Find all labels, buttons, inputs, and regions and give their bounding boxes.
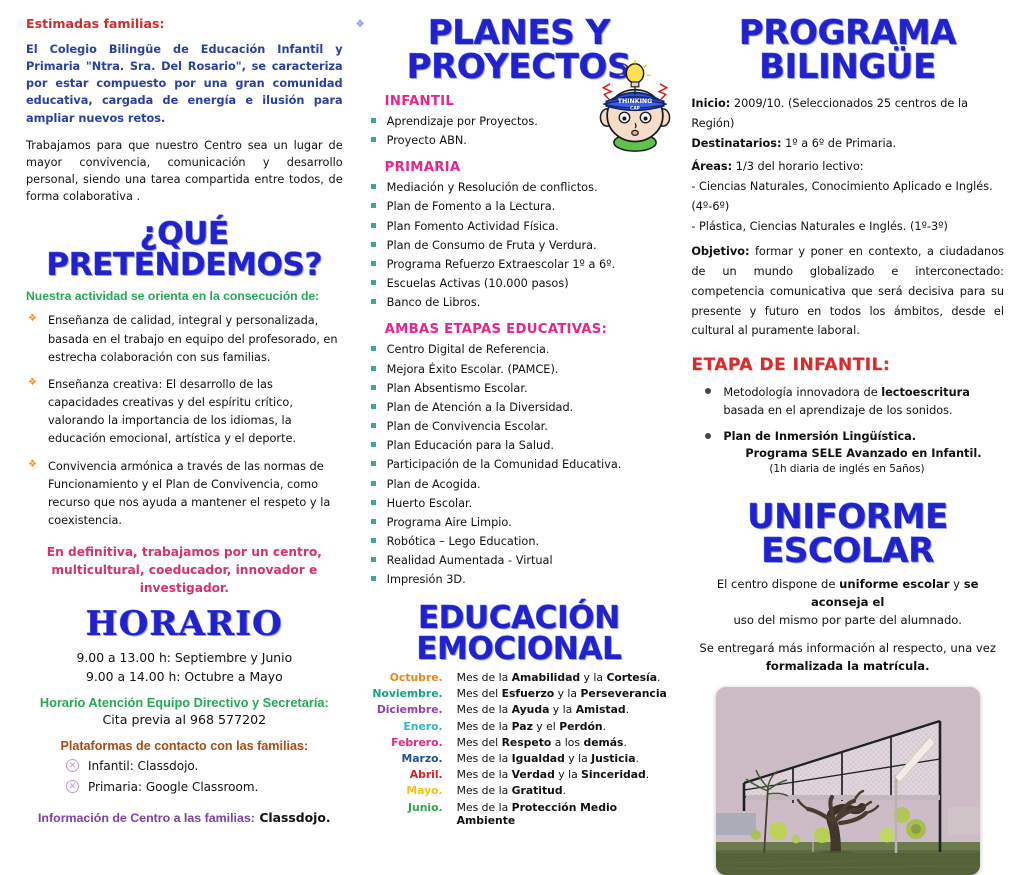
list-item: Realidad Aumentada - Virtual [367, 551, 676, 569]
month-label: Noviembre. [363, 686, 457, 702]
list-item-label: Proyecto ABN. [387, 134, 467, 147]
list-item-label: Programa Aire Limpio. [387, 516, 512, 529]
square-bullet-icon [371, 481, 376, 486]
brochure-page: Estimadas familias: El Colegio Bilingüe … [0, 0, 1024, 724]
uniforme-paragraph-2-line-2: formalizada la matrícula. [691, 658, 1004, 676]
uniforme-paragraph-1: El centro dispone de uniforme escolar y … [691, 576, 1004, 612]
bilingue-inicio-row: Inicio: 2009/10. (Seleccionados 25 centr… [691, 94, 1004, 134]
heading-plataformas: Plataformas de contacto con las familias… [26, 739, 343, 753]
list-item-label: Escuelas Activas (10.000 pasos) [387, 277, 569, 290]
list-item-label: Programa Refuerzo Extraescolar 1º a 6º. [387, 258, 615, 271]
horario-line-1: 9.00 a 13.00 h: Septiembre y Junio [26, 649, 343, 668]
diamond-bullet-icon: ❖ [28, 314, 37, 323]
objetivo-value: formar y poner en contexto, a ciudadanos… [691, 245, 1004, 337]
list-item-label: Impresión 3D. [387, 573, 466, 586]
list-item: ✕ Primaria: Google Classroom. [62, 778, 343, 796]
heading-que-pretendemos: ¿QUÉ PRETENDEMOS? [26, 219, 343, 281]
square-bullet-icon [371, 423, 376, 428]
list-item: Plan Fomento Actividad Física. [367, 217, 676, 235]
list-item: Plan de Inmersión Lingüística. Programa … [701, 428, 1004, 478]
list-item-label: Plan de Fomento a la Lectura. [387, 200, 556, 213]
month-label: Mayo. [363, 783, 457, 799]
table-row: Diciembre.Mes de la Ayuda y la Amistad. [363, 702, 676, 718]
square-bullet-icon [371, 461, 376, 466]
svg-text:CAP: CAP [631, 105, 641, 111]
intro-paragraph-2: Trabajamos para que nuestro Centro sea u… [26, 137, 343, 206]
month-description: Mes de la Ayuda y la Amistad. [457, 702, 676, 718]
inicio-value: 2009/10. (Seleccionados 25 centros de la… [691, 97, 968, 130]
square-bullet-icon [371, 385, 376, 390]
table-row: Junio.Mes de la Protección Medio Ambient… [363, 799, 676, 828]
areas-label: Áreas: [691, 160, 732, 173]
list-item: ❖ Enseñanza creativa: El desarrollo de l… [26, 375, 343, 448]
month-description: Mes del Respeto a los demás. [457, 734, 676, 750]
bilingue-destinatarios-row: Destinatarios: 1º a 6º de Primaria. [691, 134, 1004, 154]
diamond-bullet-icon: ❖ [28, 378, 37, 387]
list-item: Plan de Atención a la Diversidad. [367, 398, 676, 416]
uniforme-p1-mid: y [949, 577, 963, 591]
objetivo-label: Objetivo: [691, 245, 749, 258]
list-item: Centro Digital de Referencia. [367, 340, 676, 358]
list-item: Participación de la Comunidad Educativa. [367, 455, 676, 473]
month-label: Febrero. [363, 734, 457, 750]
square-bullet-icon [371, 576, 376, 581]
square-bullet-icon [371, 261, 376, 266]
list-item-label: Metodología innovadora de lectoescritura… [723, 386, 970, 417]
areas-value: 1/3 del horario lectivo: [732, 160, 863, 173]
list-item: Metodología innovadora de lectoescritura… [701, 383, 1004, 419]
pretendemos-subtitle: Nuestra actividad se orienta en la conse… [26, 289, 343, 303]
list-item: Plan de Acogida. [367, 475, 676, 493]
info-centro-row: Información de Centro a las familias: Cl… [26, 809, 343, 828]
intro-paragraph-1: El Colegio Bilingüe de Educación Infanti… [26, 41, 343, 127]
educacion-emocional-table: Octubre.Mes de la Amabilidad y la Cortes… [363, 669, 676, 828]
column-left: Estimadas familias: El Colegio Bilingüe … [14, 16, 353, 720]
list-item-label: Plan de Atención a la Diversidad. [387, 401, 574, 414]
list-item-label: Plan de Consumo de Fruta y Verdura. [387, 239, 597, 252]
circled-x-icon: ✕ [66, 759, 79, 772]
square-bullet-icon [371, 538, 376, 543]
month-label: Enero. [363, 718, 457, 734]
plataformas-list: ✕ Infantil: Classdojo. ✕ Primaria: Googl… [62, 757, 343, 796]
horario-line-2: 9.00 a 14.00 h: Octubre a Mayo [26, 668, 343, 687]
table-row: Marzo.Mes de la Igualdad y la Justicia. [363, 750, 676, 766]
list-item-label: Enseñanza de calidad, integral y persona… [48, 314, 338, 363]
square-bullet-icon [371, 280, 376, 285]
list-item-label: Primaria: Google Classroom. [88, 780, 258, 794]
list-item-label: Convivencia armónica a través de las nor… [48, 460, 330, 527]
etapa-item1-bold: lectoescritura [881, 386, 970, 399]
salutation: Estimadas familias: [26, 16, 343, 31]
list-item-label: Centro Digital de Referencia. [387, 343, 550, 356]
list-item: Escuelas Activas (10.000 pasos) [367, 274, 676, 292]
list-item-label: Robótica – Lego Education. [387, 535, 539, 548]
etapa-item2-line-2: Programa SELE Avanzado en Infantil. [723, 445, 1004, 462]
info-centro-value: Classdojo. [259, 810, 330, 825]
list-item-label: Huerto Escolar. [387, 497, 473, 510]
list-item: Mejora Éxito Escolar. (PAMCE). [367, 360, 676, 378]
etapa-item1-post: basada en el aprendizaje de los sonidos. [723, 404, 952, 417]
list-item-label: Plan Absentismo Escolar. [387, 382, 528, 395]
heading-uniforme-escolar: UNIFORME ESCOLAR [691, 500, 1004, 568]
month-label: Octubre. [363, 669, 457, 685]
uniforme-p1-bold-1: uniforme escolar [839, 577, 949, 591]
list-item-label: Realidad Aumentada - Virtual [387, 554, 553, 567]
group-items: Aprendizaje por Proyectos. Proyecto ABN. [367, 112, 676, 149]
school-building-image [716, 687, 980, 875]
group-items: Centro Digital de Referencia. Mejora Éxi… [367, 340, 676, 588]
closing-line-2: multicultural, coeducador, innovador e i… [26, 562, 343, 597]
etapa-infantil-list: Metodología innovadora de lectoescritura… [701, 383, 1004, 477]
emocional-table-body: Octubre.Mes de la Amabilidad y la Cortes… [363, 669, 676, 828]
list-item: Robótica – Lego Education. [367, 532, 676, 550]
group-ambas-etapas: ❖ AMBAS ETAPAS EDUCATIVAS: Centro Digita… [363, 320, 676, 588]
table-row: Mayo.Mes de la Gratitud. [363, 783, 676, 799]
month-description: Mes de la Protección Medio Ambiente [457, 799, 676, 828]
heading-etapa-infantil: ETAPA DE INFANTIL: [691, 355, 1004, 375]
list-item: Aprendizaje por Proyectos. [367, 112, 676, 130]
dot-bullet-icon [705, 388, 711, 394]
closing-line-1: En definitiva, trabajamos por un centro, [26, 544, 343, 562]
list-item-label: Banco de Libros. [387, 296, 481, 309]
list-item: Plan Absentismo Escolar. [367, 379, 676, 397]
list-item-label: Participación de la Comunidad Educativa. [387, 458, 622, 471]
square-bullet-icon [371, 299, 376, 304]
heading-atencion: Horario Atención Equipo Directivo y Secr… [26, 695, 343, 710]
month-label: Junio. [363, 799, 457, 828]
square-bullet-icon [371, 223, 376, 228]
svg-text:THINKING: THINKING [618, 98, 653, 105]
square-bullet-icon [371, 442, 376, 447]
list-item-label: Aprendizaje por Proyectos. [387, 115, 538, 128]
column-right: PROGRAMA BILINGÜE Inicio: 2009/10. (Sele… [681, 16, 1010, 720]
list-item-label: Mediación y Resolución de conflictos. [387, 181, 598, 194]
month-description: Mes de la Paz y el Perdón. [457, 718, 676, 734]
square-bullet-icon [371, 118, 376, 123]
list-item-label: Plan Fomento Actividad Física. [387, 220, 559, 233]
month-description: Mes de la Verdad y la Sinceridad. [457, 767, 676, 783]
square-bullet-icon [371, 500, 376, 505]
list-item: ❖ Convivencia armónica a través de las n… [26, 457, 343, 530]
month-description: Mes de la Igualdad y la Justicia. [457, 750, 676, 766]
month-label: Abril. [363, 767, 457, 783]
heading-programa-bilingue: PROGRAMA BILINGÜE [691, 16, 1004, 84]
info-centro-label: Información de Centro a las familias: [38, 811, 255, 825]
square-bullet-icon [371, 366, 376, 371]
areas-item-2: - Plástica, Ciencias Naturales e Inglés.… [691, 217, 1004, 237]
square-bullet-icon [371, 346, 376, 351]
list-item: Impresión 3D. [367, 570, 676, 588]
circled-x-icon: ✕ [66, 780, 79, 793]
list-item-label: Plan de Convivencia Escolar. [387, 420, 548, 433]
list-item: Plan Educación para la Salud. [367, 436, 676, 454]
month-description: Mes del Esfuerzo y la Perseverancia [457, 686, 676, 702]
pretendemos-list: ❖ Enseñanza de calidad, integral y perso… [26, 311, 343, 529]
square-bullet-icon [371, 404, 376, 409]
list-item-label: Infantil: Classdojo. [88, 759, 198, 773]
uniforme-p1-pre: El centro dispone de [717, 577, 839, 591]
diamond-bullet-icon: ❖ [28, 460, 37, 469]
list-item-label: Enseñanza creativa: El desarrollo de las… [48, 378, 296, 445]
group-items: Mediación y Resolución de conflictos. Pl… [367, 178, 676, 311]
list-item: Plan de Convivencia Escolar. [367, 417, 676, 435]
inicio-label: Inicio: [691, 97, 730, 110]
list-item: Programa Aire Limpio. [367, 513, 676, 531]
dot-bullet-icon [705, 433, 711, 439]
square-bullet-icon [371, 519, 376, 524]
list-item: ❖ Enseñanza de calidad, integral y perso… [26, 311, 343, 365]
group-heading-label: INFANTIL [385, 94, 454, 109]
uniforme-paragraph-1-line-2: uso del mismo por parte del alumnado. [691, 612, 1004, 630]
bilingue-areas-row: Áreas: 1/3 del horario lectivo: [691, 157, 1004, 177]
table-row: Febrero.Mes del Respeto a los demás. [363, 734, 676, 750]
month-label: Diciembre. [363, 702, 457, 718]
atencion-subtitle: Cita previa al 968 577202 [26, 710, 343, 729]
square-bullet-icon [371, 242, 376, 247]
group-heading-label: AMBAS ETAPAS EDUCATIVAS: [385, 322, 608, 337]
heading-horario: HORARIO [26, 607, 343, 641]
list-item: Plan de Fomento a la Lectura. [367, 197, 676, 215]
list-item-label: Plan de Acogida. [387, 478, 481, 491]
list-item: Banco de Libros. [367, 293, 676, 311]
group-primaria: ❖ PRIMARIA Mediación y Resolución de con… [363, 158, 676, 311]
school-building-photo [716, 687, 980, 875]
group-heading-label: PRIMARIA [385, 160, 461, 175]
areas-item-1: - Ciencias Naturales, Conocimiento Aplic… [691, 177, 1004, 217]
table-row: Noviembre.Mes del Esfuerzo y la Persever… [363, 686, 676, 702]
list-item: Huerto Escolar. [367, 494, 676, 512]
column-middle: PLANES Y PROYECTOS THINKING CAP [353, 16, 682, 720]
etapa-item1-pre: Metodología innovadora de [723, 386, 881, 399]
table-row: Octubre.Mes de la Amabilidad y la Cortes… [363, 669, 676, 685]
list-item-label: Plan Educación para la Salud. [387, 439, 554, 452]
heading-educacion-emocional: EDUCACIÓN EMOCIONAL [363, 603, 676, 665]
bilingue-objetivo-row: Objetivo: formar y poner en contexto, a … [691, 242, 1004, 341]
destinatarios-value: 1º a 6º de Primaria. [782, 137, 897, 150]
month-label: Marzo. [363, 750, 457, 766]
square-bullet-icon [371, 137, 376, 142]
square-bullet-icon [371, 184, 376, 189]
month-description: Mes de la Amabilidad y la Cortesía. [457, 669, 676, 685]
list-item-label: Mejora Éxito Escolar. (PAMCE). [387, 363, 559, 376]
etapa-item2-line-3: (1h diaria de inglés en 5años) [723, 462, 1004, 478]
etapa-item2-line-1: Plan de Inmersión Lingüística. [723, 428, 1004, 445]
month-description: Mes de la Gratitud. [457, 783, 676, 799]
list-item: ✕ Infantil: Classdojo. [62, 757, 343, 775]
list-item: Programa Refuerzo Extraescolar 1º a 6º. [367, 255, 676, 273]
destinatarios-label: Destinatarios: [691, 137, 781, 150]
diamond-bullet-icon: ❖ [356, 20, 365, 30]
list-item: Proyecto ABN. [367, 131, 676, 149]
group-heading: ❖ AMBAS ETAPAS EDUCATIVAS: [363, 320, 676, 338]
group-heading: ❖ PRIMARIA [363, 158, 676, 176]
table-row: Abril.Mes de la Verdad y la Sinceridad. [363, 767, 676, 783]
uniforme-paragraph-2-line-1: Se entregará más información al respecto… [691, 640, 1004, 658]
list-item: Mediación y Resolución de conflictos. [367, 178, 676, 196]
list-item: Plan de Consumo de Fruta y Verdura. [367, 236, 676, 254]
square-bullet-icon [371, 557, 376, 562]
table-row: Enero.Mes de la Paz y el Perdón. [363, 718, 676, 734]
square-bullet-icon [371, 203, 376, 208]
